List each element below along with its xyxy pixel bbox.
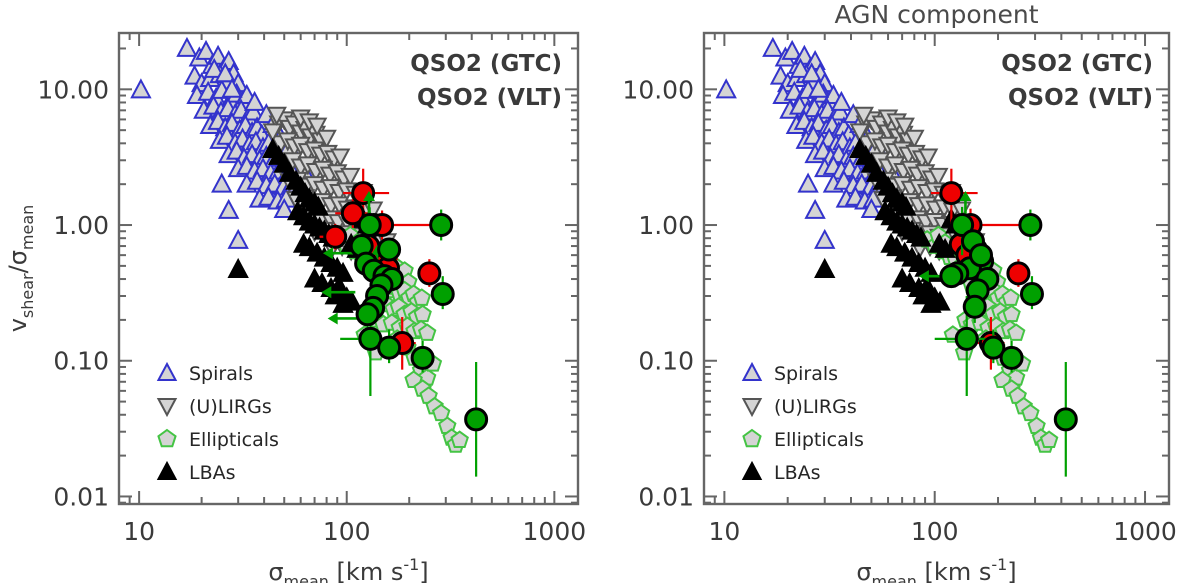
data-point-marker (419, 263, 440, 284)
legend-marker-icon (158, 430, 175, 446)
data-point-marker (220, 201, 238, 218)
legend-marker-icon (158, 399, 175, 415)
legend-label: (U)LIRGs (774, 396, 857, 418)
legend-label: LBAs (774, 462, 821, 484)
legend-marker-icon (158, 463, 175, 479)
panel-title: AGN component (834, 0, 1038, 29)
plot-key-right-panel: QSO2 (GTC)QSO2 (VLT) (1001, 51, 1153, 111)
data-point-marker (431, 215, 452, 236)
y-tick-label: 0.10 (638, 347, 694, 376)
legend-label: (U)LIRGs (189, 396, 272, 418)
arrow-head-icon (328, 312, 338, 324)
data-point-marker (717, 80, 735, 97)
key-label-gtc: QSO2 (GTC) (410, 51, 562, 77)
x-axis-label: σmean [km s-1] (268, 555, 428, 583)
data-point-marker (132, 80, 150, 97)
data-point-marker (1001, 347, 1022, 368)
data-point-marker (213, 175, 231, 192)
data-point-marker (1020, 215, 1041, 236)
data-point-marker (379, 337, 400, 358)
data-point-marker (412, 347, 433, 368)
legend-label: Spirals (189, 363, 253, 385)
legend-left-panel: Spirals(U)LIRGsEllipticalsLBAs (158, 363, 278, 484)
legend-marker-icon (158, 364, 175, 380)
x-tick-label: 10 (123, 517, 155, 546)
right-panel: AGN component10100100010.001.000.100.01σ… (622, 0, 1176, 583)
x-tick-label: 10 (708, 517, 740, 546)
x-axis-label: σmean [km s-1] (856, 555, 1016, 583)
data-point-marker (359, 215, 380, 236)
data-point-marker (941, 183, 962, 204)
key-label-gtc: QSO2 (GTC) (1001, 51, 1153, 77)
legend-label: Ellipticals (189, 429, 279, 451)
data-point-marker (357, 304, 378, 325)
scatter-plot-figure: 10100100010.001.000.100.01σmean [km s-1]… (0, 0, 1200, 583)
legend-label: Ellipticals (774, 429, 864, 451)
legend-marker-icon (743, 430, 760, 446)
y-tick-label: 0.01 (53, 482, 109, 511)
data-point-marker (806, 201, 824, 218)
x-tick-label: 100 (323, 517, 371, 546)
data-point-marker (816, 231, 834, 248)
data-point-marker (466, 409, 487, 430)
data-point-marker (971, 245, 992, 266)
legend-label: Spirals (774, 363, 838, 385)
y-tick-label: 0.01 (638, 482, 694, 511)
legend-label: LBAs (189, 462, 236, 484)
figure-canvas: 10100100010.001.000.100.01σmean [km s-1]… (0, 0, 1200, 583)
y-tick-label: 10.00 (37, 75, 109, 104)
data-point-marker (941, 266, 962, 287)
y-axis-label: vshear/σmean (4, 205, 37, 333)
y-tick-label: 0.10 (53, 347, 109, 376)
data-point-marker (1021, 284, 1042, 305)
x-tick-label: 1000 (1113, 517, 1177, 546)
y-tick-label: 1.00 (53, 211, 109, 240)
data-point-marker (1008, 263, 1029, 284)
y-tick-label: 10.00 (622, 75, 694, 104)
data-point-marker (764, 39, 782, 56)
legend-right-panel: Spirals(U)LIRGsEllipticalsLBAs (743, 363, 863, 484)
data-point-marker (1055, 409, 1076, 430)
key-label-vlt: QSO2 (VLT) (1008, 85, 1153, 111)
data-point-marker (432, 284, 453, 305)
x-tick-label: 100 (911, 517, 959, 546)
data-point-marker (956, 328, 977, 349)
data-point-marker (799, 175, 817, 192)
legend-marker-icon (743, 399, 760, 415)
y-tick-label: 1.00 (638, 211, 694, 240)
data-point-marker (379, 239, 400, 260)
data-point-marker (178, 39, 196, 56)
data-point-marker (229, 231, 247, 248)
plot-key-left-panel: QSO2 (GTC)QSO2 (VLT) (410, 51, 562, 111)
data-point-marker (229, 260, 247, 277)
legend-marker-icon (743, 463, 760, 479)
legend-marker-icon (743, 364, 760, 380)
left-panel: 10100100010.001.000.100.01σmean [km s-1]… (4, 33, 586, 583)
x-tick-label: 1000 (523, 517, 587, 546)
key-label-vlt: QSO2 (VLT) (417, 85, 562, 111)
data-point-marker (325, 226, 346, 247)
data-point-marker (816, 260, 834, 277)
data-point-marker (964, 296, 985, 317)
